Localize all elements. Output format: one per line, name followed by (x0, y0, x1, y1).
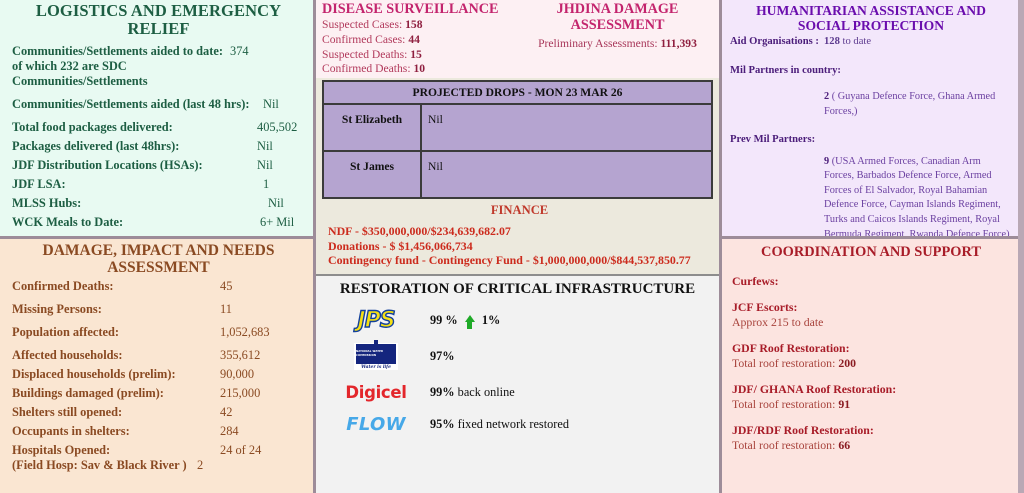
dashboard-board: LOGISTICS AND EMERGENCY RELIEF Communiti… (0, 0, 1024, 493)
logistics-row-value: 405,502 (257, 120, 297, 135)
logistics-row-value: Nil (257, 139, 273, 154)
logistics-row: Communities/Settlements aided (last 48 h… (12, 97, 305, 112)
restoration-pct: 95% (430, 417, 455, 431)
damage-row-value: 1,052,683 (220, 325, 270, 340)
logistics-row-label: WCK Meals to Date: (12, 215, 260, 230)
coordination-block: GDF Roof Restoration: Total roof restora… (732, 341, 1010, 371)
finance-panel: FINANCE NDF - $350,000,000/$234,639,682.… (316, 199, 719, 274)
flow-logo: FLOW (322, 414, 430, 435)
coordination-label: GDF Roof Restoration: (732, 341, 1010, 356)
mil-partners-list: 2 ( Guyana Defence Force, Ghana Armed Fo… (824, 90, 1012, 119)
restoration-note: fixed network restored (458, 417, 569, 431)
prev-mil-partners-names: (USA Armed Forces, Canadian Arm Forces, … (824, 156, 1010, 236)
digicel-logo: Digicel (322, 383, 430, 402)
aid-organisations-value: 128 to date (824, 36, 871, 47)
prev-mil-partners-label: Prev Mil Partners: (730, 134, 815, 145)
mil-partners-row: Mil Partners in country: (730, 65, 1012, 76)
left-column: LOGISTICS AND EMERGENCY RELIEF Communiti… (0, 0, 313, 493)
logistics-row: WCK Meals to Date: 6+ Mil (12, 215, 305, 230)
damage-row-value: 24 of 24 (220, 443, 261, 458)
damage-row-label: Buildings damaged (prelim): (12, 386, 220, 401)
disease-subpanel: DISEASE SURVEILLANCE Suspected Cases: 15… (322, 2, 520, 78)
logistics-row: JDF LSA: 1 (12, 177, 305, 192)
damage-row-value: 355,612 (220, 348, 260, 363)
restoration-row: JPS 99 % 1% (322, 304, 713, 336)
logistics-row-label: JDF LSA: (12, 177, 263, 192)
jhdina-title: JHDINA DAMAGE ASSESSMENT (520, 2, 715, 33)
humanitarian-panel: HUMANITARIAN ASSISTANCE AND SOCIAL PROTE… (722, 0, 1018, 236)
disease-line: Suspected Deaths: 15 (322, 48, 520, 63)
mil-partners-label: Mil Partners in country: (730, 65, 841, 76)
finance-line: Donations - $ $1,456,066,734 (328, 239, 711, 254)
coordination-block: JDF/ GHANA Roof Restoration: Total roof … (732, 382, 1010, 412)
logistics-row: MLSS Hubs: Nil (12, 196, 305, 211)
damage-row-label: Missing Persons: (12, 302, 220, 317)
disease-line-value: 44 (408, 33, 420, 46)
disease-line-label: Confirmed Deaths: (322, 62, 411, 75)
logistics-row-label: of which 232 are SDC (12, 59, 127, 74)
logistics-row-label: Packages delivered (last 48hrs): (12, 139, 257, 154)
up-arrow-icon (465, 315, 475, 329)
disease-line-label: Suspected Cases: (322, 18, 402, 31)
damage-row-value: 215,000 (220, 386, 260, 401)
logistics-row-label: Communities/Settlements aided (last 48 h… (12, 97, 263, 112)
coordination-value-text: Total roof restoration: (732, 438, 838, 452)
coordination-block: Curfews: (732, 274, 1010, 289)
logistics-row-value: 374 (230, 44, 249, 59)
finance-line: NDF - $350,000,000/$234,639,682.07 (328, 224, 711, 239)
table-header-row: PROJECTED DROPS - MON 23 MAR 26 (323, 81, 712, 104)
restoration-row: Digicel 99% back online (322, 376, 713, 408)
damage-row-label: Occupants in shelters: (12, 424, 220, 439)
logistics-row-value: 6+ Mil (260, 215, 294, 230)
coordination-value-number: 91 (838, 397, 850, 411)
logistics-row: Communities/Settlements (12, 74, 305, 89)
nwc-logo-tagline: Water is life (361, 365, 391, 370)
logistics-row: of which 232 are SDC (12, 59, 305, 74)
disease-line-value: 158 (405, 18, 422, 31)
damage-row: Shelters still opened: 42 (12, 405, 305, 420)
damage-row-label: Hospitals Opened: (12, 443, 220, 458)
damage-row: Occupants in shelters: 284 (12, 424, 305, 439)
drop-value: Nil (421, 151, 712, 198)
logistics-row: JDF Distribution Locations (HSAs): Nil (12, 158, 305, 173)
damage-row-value: 42 (220, 405, 232, 420)
restoration-row: FLOW 95% fixed network restored (322, 408, 713, 440)
damage-row-label: Confirmed Deaths: (12, 279, 220, 294)
aid-organisations-suffix: to date (840, 36, 871, 47)
coordination-panel: COORDINATION AND SUPPORT Curfews: JCF Es… (722, 236, 1018, 493)
logistics-row-label: Communities/Settlements aided to date: (12, 44, 230, 59)
coordination-value-number: 66 (838, 438, 850, 452)
damage-row-value: 45 (220, 279, 232, 294)
nwc-logo-text: NATIONAL WATER COMMISSION (356, 350, 396, 357)
damage-row: Hospitals Opened: 24 of 24 (12, 443, 305, 458)
restoration-pct: 97% (430, 349, 455, 363)
mil-partners-names: ( Guyana Defence Force, Ghana Armed Forc… (824, 91, 995, 117)
prev-mil-partners-list: 9 (USA Armed Forces, Canadian Arm Forces… (824, 155, 1012, 236)
logistics-title: LOGISTICS AND EMERGENCY RELIEF (12, 2, 305, 39)
logistics-row: Packages delivered (last 48hrs): Nil (12, 139, 305, 154)
projected-drops-table: PROJECTED DROPS - MON 23 MAR 26 St Eliza… (322, 80, 713, 199)
restoration-delta: 1% (482, 313, 500, 327)
damage-row-value: 284 (220, 424, 239, 439)
disease-line: Confirmed Cases: 44 (322, 33, 520, 48)
disease-line-label: Confirmed Cases: (322, 33, 405, 46)
damage-row: Affected households: 355,612 (12, 348, 305, 363)
damage-row-value: 2 (197, 458, 203, 473)
coordination-block: JDF/RDF Roof Restoration: Total roof res… (732, 423, 1010, 453)
coordination-label: JDF/RDF Roof Restoration: (732, 423, 1010, 438)
coordination-value-text: Total roof restoration: (732, 397, 838, 411)
coordination-value-text: Total roof restoration: (732, 356, 838, 370)
coordination-value-number: 200 (838, 356, 856, 370)
restoration-status: 97% (430, 349, 455, 364)
coordination-label: JDF/ GHANA Roof Restoration: (732, 382, 1010, 397)
aid-organisations-count: 128 (824, 36, 840, 47)
disease-line-label: Suspected Deaths: (322, 48, 407, 61)
damage-row-label: Displaced households (prelim): (12, 367, 220, 382)
restoration-pct: 99% (430, 385, 455, 399)
damage-row: Population affected: 1,052,683 (12, 325, 305, 340)
restoration-title: RESTORATION OF CRITICAL INFRASTRUCTURE (322, 281, 713, 298)
coordination-value: Total roof restoration: 66 (732, 438, 1010, 453)
nwc-logo-mark: NATIONAL WATER COMMISSION (356, 344, 396, 364)
disease-line: Suspected Cases: 158 (322, 18, 520, 33)
disease-surveillance-panel: DISEASE SURVEILLANCE Suspected Cases: 15… (316, 0, 719, 78)
damage-title: DAMAGE, IMPACT AND NEEDS ASSESSMENT (12, 242, 305, 277)
drop-parish: St Elizabeth (323, 104, 421, 151)
middle-column: DISEASE SURVEILLANCE Suspected Cases: 15… (313, 0, 722, 493)
restoration-status: 99 % 1% (430, 313, 500, 328)
coordination-block: JCF Escorts: Approx 215 to date (732, 300, 1010, 330)
jhdina-value: 111,393 (660, 37, 696, 50)
restoration-note: back online (458, 385, 515, 399)
restoration-status: 99% back online (430, 385, 515, 400)
logistics-row: Total food packages delivered: 405,502 (12, 120, 305, 135)
digicel-logo-text: Digicel (345, 383, 406, 402)
coordination-label: JCF Escorts: (732, 300, 1010, 315)
damage-row-value: 11 (220, 302, 232, 317)
damage-row-value: 90,000 (220, 367, 254, 382)
logistics-row: Communities/Settlements aided to date: 3… (12, 44, 305, 59)
disease-line: Confirmed Deaths: 10 (322, 62, 520, 77)
restoration-row: NATIONAL WATER COMMISSION Water is life … (322, 336, 713, 376)
damage-row-label: Population affected: (12, 325, 220, 340)
damage-row: Confirmed Deaths: 45 (12, 279, 305, 294)
disease-line-value: 15 (410, 48, 422, 61)
logistics-row-value: Nil (257, 158, 273, 173)
finance-line: Contingency fund - Contingency Fund - $1… (328, 253, 711, 268)
drop-parish: St James (323, 151, 421, 198)
coordination-value: Total roof restoration: 91 (732, 397, 1010, 412)
damage-row: (Field Hosp: Sav & Black River ) 2 (12, 458, 305, 473)
logistics-row-value: Nil (263, 97, 279, 112)
prev-mil-partners-row: Prev Mil Partners: (730, 134, 1012, 145)
coordination-label: Curfews: (732, 274, 1010, 289)
humanitarian-title: HUMANITARIAN ASSISTANCE AND SOCIAL PROTE… (730, 3, 1012, 33)
jps-logo-text: JPS (357, 308, 394, 333)
logistics-panel: LOGISTICS AND EMERGENCY RELIEF Communiti… (0, 0, 313, 236)
aid-organisations-row: Aid Organisations : 128 to date (730, 36, 1012, 47)
restoration-pct: 99 % (430, 313, 458, 327)
logistics-row-label: Communities/Settlements (12, 74, 148, 89)
jhdina-assessments: Preliminary Assessments: 111,393 (520, 37, 715, 50)
disease-line-value: 10 (413, 62, 425, 75)
coordination-title: COORDINATION AND SUPPORT (732, 244, 1010, 260)
nwc-logo: NATIONAL WATER COMMISSION Water is life (322, 343, 430, 370)
damage-row-label: (Field Hosp: Sav & Black River ) (12, 458, 197, 473)
coordination-value: Approx 215 to date (732, 315, 1010, 330)
right-column: HUMANITARIAN ASSISTANCE AND SOCIAL PROTE… (722, 0, 1018, 493)
drop-value: Nil (421, 104, 712, 151)
table-row: St James Nil (323, 151, 712, 198)
logistics-row-label: Total food packages delivered: (12, 120, 257, 135)
flow-logo-text: FLOW (346, 414, 405, 435)
jhdina-subpanel: JHDINA DAMAGE ASSESSMENT Preliminary Ass… (520, 2, 715, 78)
table-row: St Elizabeth Nil (323, 104, 712, 151)
projected-drops-panel: PROJECTED DROPS - MON 23 MAR 26 St Eliza… (316, 78, 719, 199)
damage-row: Buildings damaged (prelim): 215,000 (12, 386, 305, 401)
logistics-row-value: Nil (268, 196, 284, 211)
restoration-panel: RESTORATION OF CRITICAL INFRASTRUCTURE J… (316, 274, 719, 493)
logistics-row-label: MLSS Hubs: (12, 196, 268, 211)
aid-organisations-label: Aid Organisations : (730, 36, 824, 47)
damage-row: Missing Persons: 11 (12, 302, 305, 317)
coordination-value: Total roof restoration: 200 (732, 356, 1010, 371)
damage-row: Displaced households (prelim): 90,000 (12, 367, 305, 382)
finance-title: FINANCE (328, 203, 711, 217)
disease-title: DISEASE SURVEILLANCE (322, 2, 520, 18)
logistics-row-label: JDF Distribution Locations (HSAs): (12, 158, 257, 173)
damage-row-label: Affected households: (12, 348, 220, 363)
jps-logo: JPS (322, 308, 430, 333)
restoration-status: 95% fixed network restored (430, 417, 569, 432)
damage-row-label: Shelters still opened: (12, 405, 220, 420)
jhdina-label: Preliminary Assessments: (538, 37, 657, 50)
logistics-row-value: 1 (263, 177, 269, 192)
projected-drops-header: PROJECTED DROPS - MON 23 MAR 26 (323, 81, 712, 104)
damage-assessment-panel: DAMAGE, IMPACT AND NEEDS ASSESSMENT Conf… (0, 236, 313, 493)
